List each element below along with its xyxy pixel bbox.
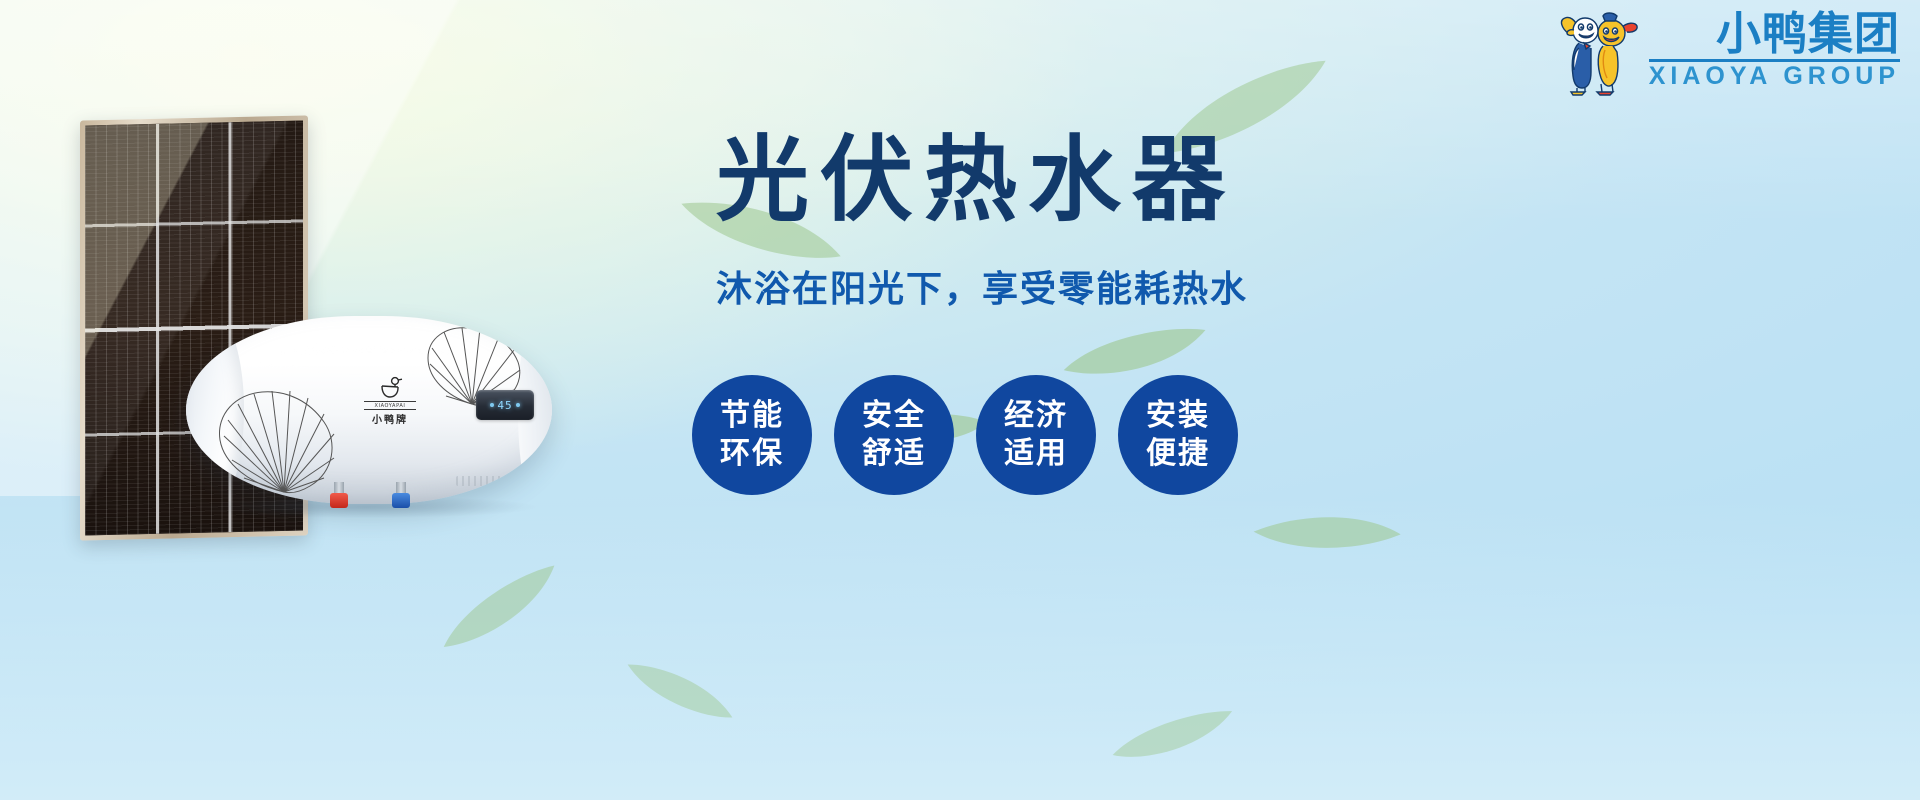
badge-line-2: 适用 [1004,435,1068,473]
badge-line-1: 安全 [862,397,926,435]
leaf-icon [1250,502,1404,561]
cold-water-inlet-icon [392,482,410,508]
hero-copy: 光伏热水器 沐浴在阳光下，享受零能耗热水 [716,128,1356,312]
leaf-icon [617,654,743,727]
mode-indicator-icon [516,403,520,407]
badge-line-1: 节能 [720,397,784,435]
inlet-outlet-pipes [330,482,450,508]
power-indicator-icon [490,403,494,407]
feature-badge-safe-comfortable[interactable]: 安全 舒适 [834,375,954,495]
logo-chinese-name: 小鸭集团 [1716,11,1900,57]
two-ducks-mascot-icon [1555,4,1641,96]
badge-line-2: 舒适 [862,435,926,473]
water-heater-image: XIAOYAPAI 小鸭牌 45 [186,316,552,504]
product-brand-cn: 小鸭牌 [364,411,416,426]
feature-badge-energy-saving[interactable]: 节能 环保 [692,375,812,495]
leaf-icon [428,556,572,661]
feature-badge-easy-install[interactable]: 安装 便捷 [1118,375,1238,495]
page-title: 光伏热水器 [716,128,1356,232]
logo-english-name: XIAOYA GROUP [1649,64,1900,89]
leaf-icon [1105,703,1240,769]
water-heater-tank: XIAOYAPAI 小鸭牌 45 [186,316,552,504]
hero-subtitle: 沐浴在阳光下，享受零能耗热水 [716,260,1356,312]
badge-line-2: 环保 [720,435,784,473]
temperature-display: 45 [497,399,512,412]
badge-line-2: 便捷 [1146,435,1210,473]
company-logo[interactable]: 小鸭集团 XIAOYA GROUP [1555,4,1900,96]
control-display-panel[interactable]: 45 [476,390,534,420]
badge-line-1: 安装 [1146,397,1210,435]
logo-wordmark: 小鸭集团 XIAOYA GROUP [1649,11,1900,90]
product-brand-mark: XIAOYAPAI 小鸭牌 [364,376,416,426]
promo-banner: XIAOYAPAI 小鸭牌 45 光伏热水器 沐浴在阳光下，享受零能耗热水 [0,0,1920,800]
badge-line-1: 经济 [1004,397,1068,435]
tank-vent-grille [456,476,528,486]
feature-badge-economical[interactable]: 经济 适用 [976,375,1096,495]
duck-outline-icon [377,376,403,400]
hot-water-outlet-icon [330,482,348,508]
feature-badge-list: 节能 环保 安全 舒适 经济 适用 安装 便捷 [692,375,1238,495]
product-brand-en: XIAOYAPAI [364,401,416,410]
